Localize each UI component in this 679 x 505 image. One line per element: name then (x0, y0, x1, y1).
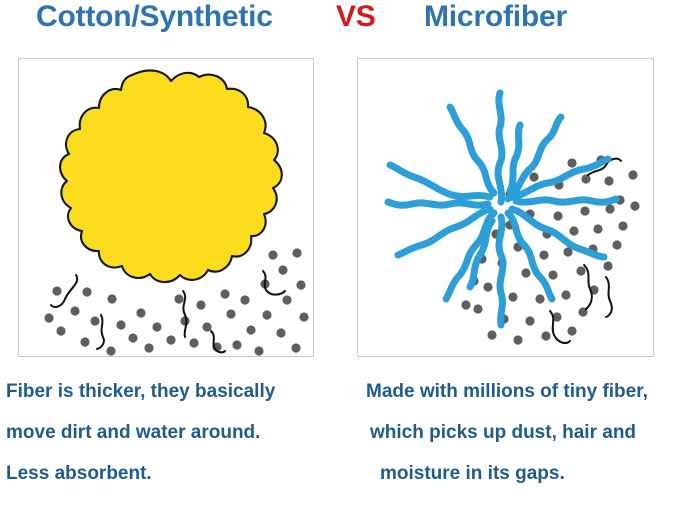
title-microfiber: Microfiber (424, 0, 567, 34)
title-cotton-synthetic: Cotton/Synthetic (36, 0, 273, 34)
comparison-infographic: Cotton/Synthetic VS Microfiber (0, 0, 679, 498)
caption-left-line-1: Fiber is thicker, they basically (6, 382, 275, 402)
panel-cotton-synthetic (18, 58, 314, 357)
caption-right-line-3: moisture in its gaps. (380, 464, 648, 484)
microfiber-diagram (358, 59, 653, 356)
caption-left-line-2: move dirt and water around. (6, 423, 275, 443)
cotton-synthetic-diagram (19, 59, 313, 356)
caption-left-line-3: Less absorbent. (6, 464, 275, 484)
yellow-fiber-blob (60, 70, 282, 282)
caption-microfiber: Made with millions of tiny fiber, which … (366, 382, 648, 505)
title-vs-separator: VS (336, 0, 376, 34)
caption-right-line-2: which picks up dust, hair and (370, 423, 648, 443)
caption-right-line-1: Made with millions of tiny fiber, (366, 382, 648, 402)
panel-microfiber (357, 58, 654, 357)
caption-cotton-synthetic: Fiber is thicker, they basically move di… (6, 382, 275, 505)
